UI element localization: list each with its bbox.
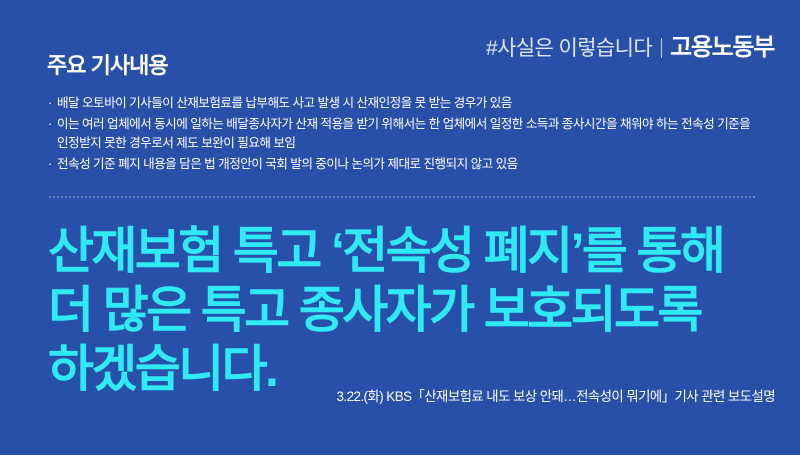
dotted-divider xyxy=(48,196,755,198)
list-item-text: 배달 오토바이 기사들이 산재보험료를 납부해도 사고 발생 시 산재인정을 못… xyxy=(57,94,760,113)
bullet-marker-icon: · xyxy=(48,94,57,113)
bullet-marker-icon: · xyxy=(48,155,57,174)
list-item-text: 전속성 기준 폐지 내용을 담은 법 개정안이 국회 발의 중이나 논의가 제대… xyxy=(57,155,760,174)
brand-hashtag: #사실은 이렇습니다 xyxy=(486,38,652,59)
organization-name: 고용노동부 xyxy=(670,36,774,60)
headline: 산재보험 특고 ‘전속성 폐지’를 통해 더 많은 특고 종사자가 보호되도록 … xyxy=(48,222,768,399)
list-item-text: 이는 여러 업체에서 동시에 일하는 배달종사자가 산재 적용을 받기 위해서는… xyxy=(57,115,760,153)
infographic-card: #사실은 이렇습니다 고용노동부 주요 기사내용 · 배달 오토바이 기사들이 … xyxy=(0,0,800,455)
headline-line-1: 산재보험 특고 ‘전속성 폐지’를 통해 xyxy=(48,222,768,281)
headline-line-2: 더 많은 특고 종사자가 보호되도록 xyxy=(48,281,768,340)
brand-bar: #사실은 이렇습니다 고용노동부 xyxy=(486,34,774,62)
bullet-marker-icon: · xyxy=(48,115,57,134)
page-title: 주요 기사내용 xyxy=(47,54,168,78)
list-item: · 배달 오토바이 기사들이 산재보험료를 납부해도 사고 발생 시 산재인정을… xyxy=(48,94,760,113)
source-caption: 3.22.(화) KBS「산재보험료 내도 보상 안돼…전속성이 뭐기에」기사 … xyxy=(337,388,775,406)
list-item: · 전속성 기준 폐지 내용을 담은 법 개정안이 국회 발의 중이나 논의가 … xyxy=(48,155,760,174)
brand-divider xyxy=(661,38,662,58)
article-summary-list: · 배달 오토바이 기사들이 산재보험료를 납부해도 사고 발생 시 산재인정을… xyxy=(48,94,760,176)
list-item: · 이는 여러 업체에서 동시에 일하는 배달종사자가 산재 적용을 받기 위해… xyxy=(48,115,760,153)
